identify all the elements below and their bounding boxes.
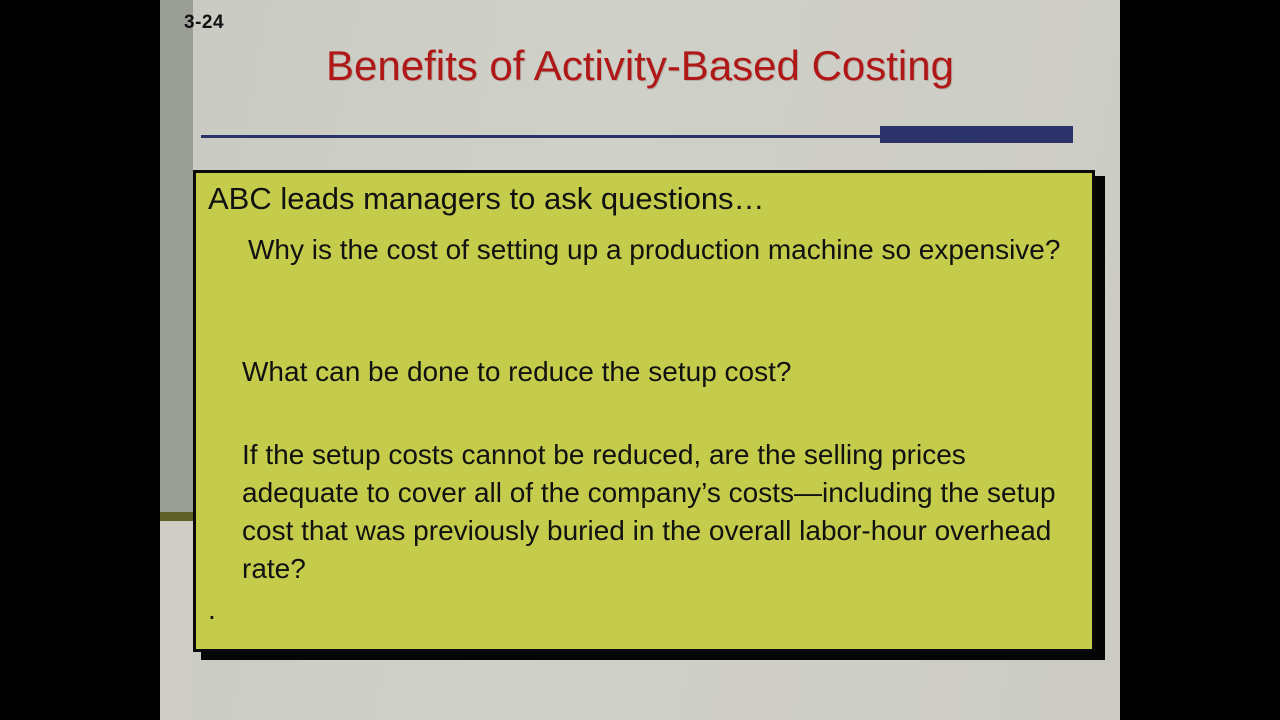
content-card: ABC leads managers to ask questions… Why… (193, 170, 1095, 652)
slide-number: 3-24 (184, 12, 224, 34)
question-item-1: Why is the cost of setting up a producti… (242, 231, 1082, 269)
screen: 3-24 Benefits of Activity-Based Costing … (0, 0, 1280, 720)
question-item-2: What can be done to reduce the setup cos… (242, 353, 1082, 391)
left-accent-band-cap (160, 512, 193, 521)
page-title: Benefits of Activity-Based Costing (160, 42, 1120, 90)
title-divider-block (880, 126, 1073, 143)
left-accent-band-lower (160, 521, 193, 720)
slide-canvas: 3-24 Benefits of Activity-Based Costing … (160, 0, 1120, 720)
trailing-period-mark: . (208, 605, 216, 615)
question-item-3: If the setup costs cannot be reduced, ar… (242, 436, 1082, 588)
content-card-body: ABC leads managers to ask questions… Why… (196, 173, 1092, 649)
card-lead-text: ABC leads managers to ask questions… (208, 181, 765, 217)
